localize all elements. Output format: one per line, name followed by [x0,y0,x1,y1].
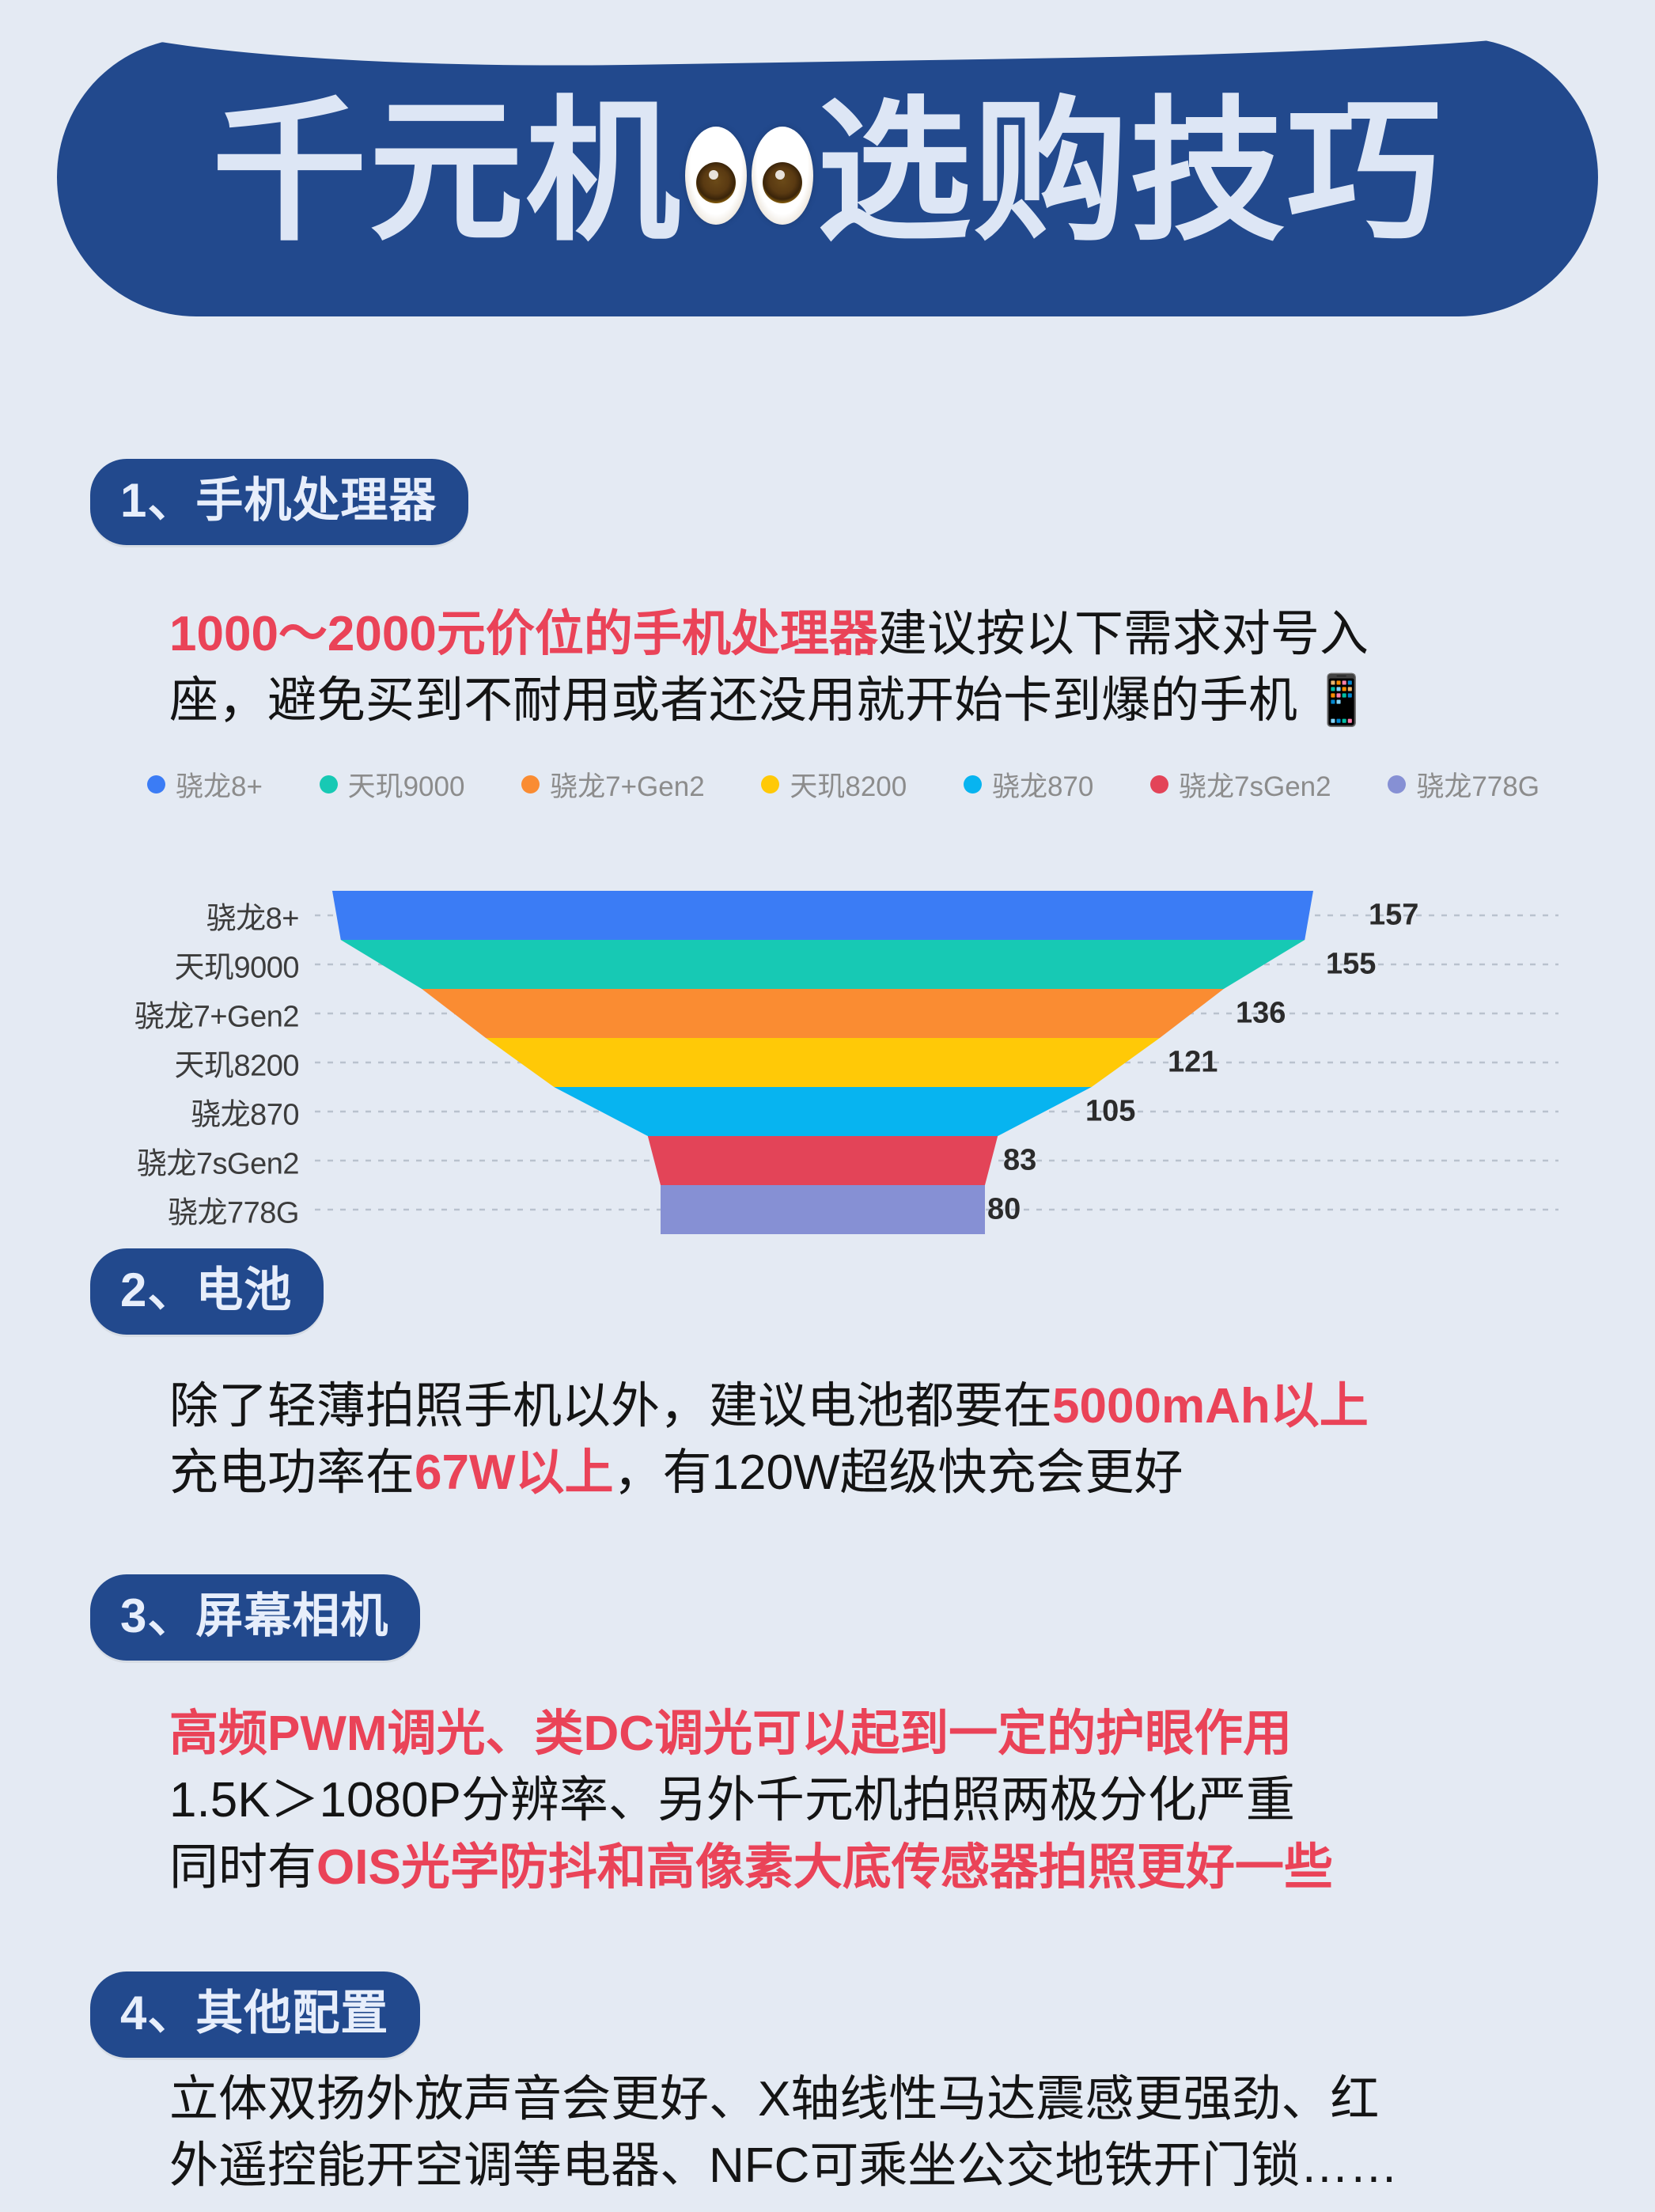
legend-color-dot [1388,775,1406,794]
body-text: 除了轻薄拍照手机以外，建议电池都要在 [169,1379,1052,1434]
funnel-label: 天玑9000 [95,943,299,987]
funnel-band [486,1038,1160,1087]
legend-item: 骁龙870 [964,764,1093,805]
section-1-paragraph: 1000～2000元价位的手机处理器建议按以下需求对号入 座，避免买到不耐用或者… [169,601,1372,735]
funnel-label: 骁龙8+ [95,894,299,937]
legend-item-label: 骁龙7+Gen2 [550,764,705,805]
paragraph-line: 1000～2000元价位的手机处理器建议按以下需求对号入 [169,601,1372,668]
legend-color-dot [147,775,165,794]
legend-item-label: 骁龙778G [1416,764,1539,805]
legend-item: 天玑8200 [761,764,907,805]
funnel-category-labels: 骁龙8+ 天玑9000 骁龙7+Gen2 天玑8200 骁龙870 骁龙7sGe… [95,890,299,1234]
funnel-band [554,1087,1091,1136]
page-title-left: 千元机 [212,95,682,250]
legend-item: 天玑9000 [320,764,465,805]
body-text: 建议按以下需求对号入 [878,607,1369,661]
paragraph-line: 高频PWM调光、类DC调光可以起到一定的护眼作用 [169,1701,1333,1767]
section-3-paragraph: 高频PWM调光、类DC调光可以起到一定的护眼作用 1.5K＞1080P分辨率、另… [169,1701,1333,1901]
funnel-chart: 骁龙8+ 天玑9000 骁龙7+Gen2 天玑8200 骁龙870 骁龙7sGe… [95,890,1566,1234]
section-4-paragraph: 立体双扬外放声音会更好、X轴线性马达震感更强劲、红 外遥控能开空调等电器、NFC… [169,2066,1398,2200]
body-text: 同时有 [169,1840,316,1895]
page-title-right: 选购技巧 [816,95,1443,250]
body-text: 外遥控能开空调等电器、NFC可乘坐公交地铁开门锁…… [169,2138,1398,2193]
paragraph-line: 座，避免买到不耐用或者还没用就开始卡到爆的手机 📱 [169,668,1372,734]
funnel-label: 骁龙7sGen2 [95,1139,299,1183]
funnel-band [341,940,1305,989]
body-text: 1.5K＞1080P分辨率、另外千元机拍照两极分化严重 [169,1773,1295,1828]
funnel-label: 骁龙778G [95,1188,299,1232]
funnel-label: 骁龙7+Gen2 [95,992,299,1036]
header-banner: 千元机 选购技巧 [57,38,1598,316]
eyes-emoji-icon [685,127,813,225]
page-title: 千元机 选购技巧 [57,33,1598,312]
legend-color-dot [1150,775,1168,794]
body-text: 立体双扬外放声音会更好、X轴线性马达震感更强劲、红 [169,2072,1379,2127]
paragraph-line: 同时有OIS光学防抖和高像素大底传感器拍照更好一些 [169,1835,1333,1901]
funnel-band [648,1136,998,1185]
highlight-text: 5000mAh以上 [1052,1379,1369,1434]
body-text: 座，避免买到不耐用或者还没用就开始卡到爆的手机 📱 [169,673,1372,728]
paragraph-line: 1.5K＞1080P分辨率、另外千元机拍照两极分化严重 [169,1767,1333,1834]
legend-item: 骁龙7+Gen2 [521,764,705,805]
funnel-band [332,891,1313,940]
funnel-band [422,989,1224,1038]
legend-color-dot [761,775,779,794]
section-pill-1: 1、手机处理器 [90,459,468,545]
section-pill-3: 3、屏幕相机 [90,1574,420,1661]
funnel-label: 骁龙870 [95,1090,299,1134]
legend-item: 骁龙7sGen2 [1150,764,1331,805]
section-pill-2: 2、电池 [90,1248,324,1335]
highlight-text: 高频PWM调光、类DC调光可以起到一定的护眼作用 [169,1706,1292,1761]
paragraph-line: 除了轻薄拍照手机以外，建议电池都要在5000mAh以上 [169,1373,1369,1440]
legend-item-label: 骁龙870 [992,764,1093,805]
eye-right-icon [752,127,813,225]
section-2-paragraph: 除了轻薄拍照手机以外，建议电池都要在5000mAh以上 充电功率在67W以上，有… [169,1373,1369,1507]
paragraph-line: 立体双扬外放声音会更好、X轴线性马达震感更强劲、红 [169,2066,1398,2133]
paragraph-line: 外遥控能开空调等电器、NFC可乘坐公交地铁开门锁…… [169,2133,1398,2199]
legend-item-label: 天玑8200 [790,764,907,805]
legend-color-dot [521,775,540,794]
funnel-label: 天玑8200 [95,1041,299,1085]
legend-color-dot [320,775,338,794]
legend-item: 骁龙8+ [147,764,263,805]
paragraph-line: 充电功率在67W以上，有120W超级快充会更好 [169,1440,1369,1506]
legend-item-label: 骁龙7sGen2 [1179,764,1331,805]
body-text: 充电功率在 [169,1445,415,1500]
chart-legend: 骁龙8+ 天玑9000 骁龙7+Gen2 天玑8200 骁龙870 骁龙7sGe… [147,764,1539,805]
highlight-text: OIS光学防抖和高像素大底传感器拍照更好一些 [316,1840,1333,1895]
legend-item: 骁龙778G [1388,764,1539,805]
legend-item-label: 天玑9000 [348,764,465,805]
highlight-text: 1000～2000元价位的手机处理器 [169,607,878,661]
eye-left-icon [685,127,747,225]
section-pill-4: 4、其他配置 [90,1971,420,2058]
body-text: ，有120W超级快充会更好 [614,1445,1183,1500]
legend-item-label: 骁龙8+ [176,764,263,805]
highlight-text: 67W以上 [415,1445,613,1500]
funnel-chart-svg [95,890,1566,1234]
legend-color-dot [964,775,982,794]
funnel-band [661,1185,985,1234]
